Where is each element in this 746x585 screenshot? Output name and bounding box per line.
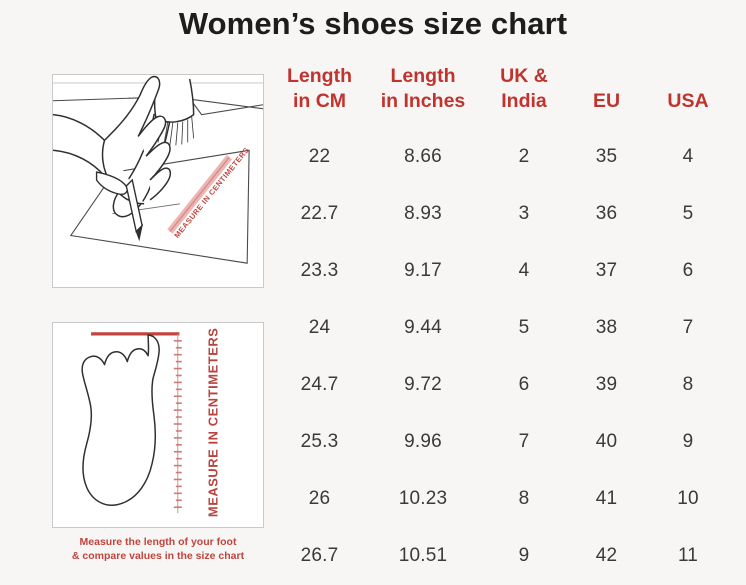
table-cell: 38: [569, 299, 644, 356]
table-cell: 9.17: [367, 242, 479, 299]
table-cell: 3: [479, 185, 569, 242]
table-cell: 8.66: [367, 128, 479, 185]
table-cell: 8: [644, 356, 732, 413]
table-body: 228.66235422.78.93336523.39.174376249.44…: [272, 128, 732, 584]
table-cell: 36: [569, 185, 644, 242]
table-cell: 42: [569, 527, 644, 584]
column-header-length-cm: Length in CM: [272, 64, 367, 128]
table-cell: 24.7: [272, 356, 367, 413]
table-row: 26.710.5194211: [272, 527, 732, 584]
foot-outline-icon: MEASURE IN CENTIMETERS: [53, 323, 263, 527]
column-header-length-inches: Length in Inches: [367, 64, 479, 128]
table-header-row: Length in CM Length in Inches UK & India…: [272, 64, 732, 128]
size-chart-table: Length in CM Length in Inches UK & India…: [272, 64, 732, 584]
table-cell: 39: [569, 356, 644, 413]
table-cell: 26.7: [272, 527, 367, 584]
table-cell: 40: [569, 413, 644, 470]
illustration-foot-outline: MEASURE IN CENTIMETERS: [52, 322, 264, 528]
table-cell: 5: [479, 299, 569, 356]
table-cell: 22: [272, 128, 367, 185]
table-row: 228.662354: [272, 128, 732, 185]
table-cell: 22.7: [272, 185, 367, 242]
caption-line-1: Measure the length of your foot: [52, 535, 264, 549]
table-cell: 10.23: [367, 470, 479, 527]
table-cell: 8.93: [367, 185, 479, 242]
table-cell: 35: [569, 128, 644, 185]
table-row: 23.39.174376: [272, 242, 732, 299]
illustration-hand-tracing-foot: MEASURE IN CENTIMETERS: [52, 74, 264, 288]
column-header-eu: EU: [569, 64, 644, 128]
size-chart-page: Women’s shoes size chart MEASURE IN CENT…: [0, 0, 746, 585]
column-header-usa: USA: [644, 64, 732, 128]
table-row: 22.78.933365: [272, 185, 732, 242]
table-cell: 9: [479, 527, 569, 584]
table-cell: 41: [569, 470, 644, 527]
table-cell: 24: [272, 299, 367, 356]
table-cell: 23.3: [272, 242, 367, 299]
caption-line-2: & compare values in the size chart: [52, 549, 264, 563]
table-cell: 26: [272, 470, 367, 527]
table-cell: 4: [479, 242, 569, 299]
table-cell: 7: [479, 413, 569, 470]
table-cell: 9.96: [367, 413, 479, 470]
table-row: 249.445387: [272, 299, 732, 356]
table-cell: 25.3: [272, 413, 367, 470]
table-cell: 6: [644, 242, 732, 299]
table-cell: 4: [644, 128, 732, 185]
table-cell: 7: [644, 299, 732, 356]
illustration-column: MEASURE IN CENTIMETERS: [52, 74, 264, 563]
table-cell: 10.51: [367, 527, 479, 584]
page-title: Women’s shoes size chart: [0, 6, 746, 42]
table-cell: 9: [644, 413, 732, 470]
table-cell: 9.72: [367, 356, 479, 413]
table-cell: 2: [479, 128, 569, 185]
table-cell: 8: [479, 470, 569, 527]
measurement-caption: Measure the length of your foot & compar…: [52, 535, 264, 563]
table-row: 2610.2384110: [272, 470, 732, 527]
table-cell: 11: [644, 527, 732, 584]
table-cell: 9.44: [367, 299, 479, 356]
table-row: 24.79.726398: [272, 356, 732, 413]
column-header-uk-india: UK & India: [479, 64, 569, 128]
table-cell: 6: [479, 356, 569, 413]
table-row: 25.39.967409: [272, 413, 732, 470]
table-cell: 10: [644, 470, 732, 527]
ruler-label-bottom: MEASURE IN CENTIMETERS: [205, 328, 220, 518]
table-cell: 37: [569, 242, 644, 299]
hand-tracing-foot-icon: MEASURE IN CENTIMETERS: [53, 75, 263, 287]
table-cell: 5: [644, 185, 732, 242]
